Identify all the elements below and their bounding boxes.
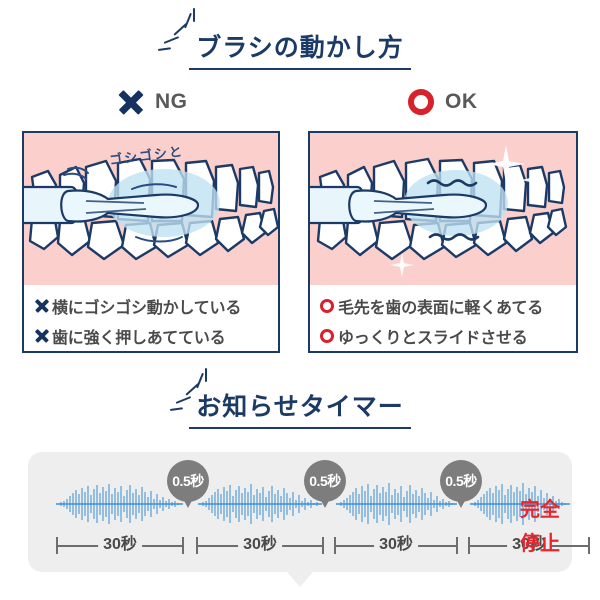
ok-illustration [310, 133, 576, 285]
interval-cap-left [468, 537, 470, 554]
timer-title-text: お知らせタイマー [0, 395, 600, 420]
infographic-root: ブラシの動かし方 NG OK [0, 0, 600, 600]
pin-label: 0.5秒 [172, 471, 203, 491]
interval-cap-left [56, 537, 58, 554]
interval-cap-right [182, 537, 184, 554]
interval-cap-left [334, 537, 336, 554]
ng-caption-item: 横にゴシゴシ動かしている [34, 294, 278, 318]
ng-caption-item: 歯に強く押しあてている [34, 324, 278, 348]
timer-box-notch [287, 572, 313, 587]
ok-caption-item: ゆっくりとスライドさせる [320, 324, 576, 348]
ok-caption-text: ゆっくりとスライドさせる [338, 324, 528, 348]
interval-cap-right [456, 537, 458, 554]
o-bullet-icon [320, 299, 334, 313]
interval-marker: 30秒 [196, 534, 324, 556]
interval-cap-right [322, 537, 324, 554]
interval-cap-right [588, 537, 590, 554]
ng-label: NG [155, 90, 188, 114]
interval-marker: 30秒 [56, 534, 184, 556]
brush-title-underline [189, 68, 411, 70]
ok-label: OK [445, 90, 478, 114]
interval-label: 30秒 [98, 534, 142, 556]
o-bullet-icon [320, 329, 334, 343]
interval-cap-left [196, 537, 198, 554]
timer-title-underline [189, 427, 411, 429]
ng-illustration: ゴシゴシと [24, 133, 278, 285]
ok-panel: 毛先を歯の表面に軽くあてる ゆっくりとスライドさせる [308, 131, 578, 353]
pin-label: 0.5秒 [445, 471, 476, 491]
ng-mark-row: NG [118, 89, 188, 115]
ng-caption-list: 横にゴシゴシ動かしている 歯に強く押しあてている [24, 285, 278, 348]
brush-section-title: ブラシの動かし方 [0, 36, 600, 70]
ok-caption-text: 毛先を歯の表面に軽くあてる [338, 294, 543, 318]
ng-caption-text: 横にゴシゴシ動かしている [52, 294, 241, 318]
pin-0.5sec: 0.5秒 [304, 460, 346, 502]
ng-caption-text: 歯に強く押しあてている [52, 324, 225, 348]
pin-label: 0.5秒 [309, 471, 340, 491]
x-mark-icon [118, 89, 144, 115]
stop-text-line2: 停止 [520, 532, 560, 557]
interval-label: 30秒 [374, 534, 418, 556]
ng-panel: ゴシゴシと 横にゴシゴシ動かしている 歯に強く押しあてている [22, 131, 280, 353]
ok-caption-item: 毛先を歯の表面に軽くあてる [320, 294, 576, 318]
pin-0.5sec: 0.5秒 [440, 460, 482, 502]
x-bullet-icon [34, 329, 49, 344]
pin-0.5sec: 0.5秒 [167, 460, 209, 502]
ok-caption-list: 毛先を歯の表面に軽くあてる ゆっくりとスライドさせる [310, 285, 576, 348]
o-mark-icon [408, 89, 434, 115]
brush-title-text: ブラシの動かし方 [0, 36, 600, 61]
stop-text-line1: 完全 [520, 498, 560, 523]
ok-teeth-drawing [310, 133, 576, 285]
interval-marker: 30秒 [334, 534, 458, 556]
waveform-group [28, 480, 572, 528]
timer-section-title: お知らせタイマー [0, 395, 600, 429]
interval-label: 30秒 [238, 534, 282, 556]
ok-mark-row: OK [408, 89, 478, 115]
x-bullet-icon [34, 299, 49, 314]
timer-diagram-box: 0.5秒 0.5秒 0.5秒 30秒 30秒 30秒 [28, 452, 572, 572]
